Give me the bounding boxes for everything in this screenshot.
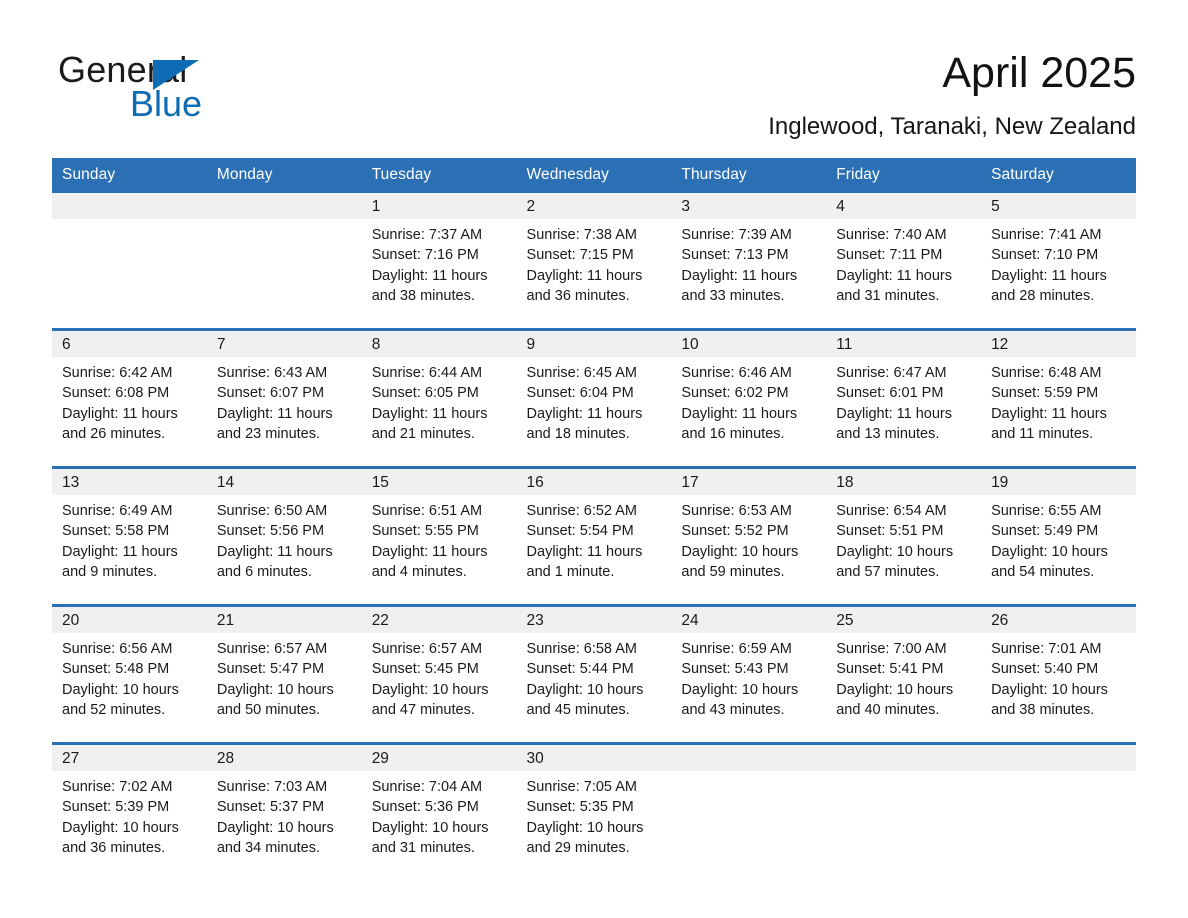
sunrise-text: Sunrise: 7:05 AM bbox=[527, 777, 664, 797]
sunrise-text: Sunrise: 7:04 AM bbox=[372, 777, 509, 797]
sunset-text: Sunset: 6:05 PM bbox=[372, 383, 509, 403]
day-number: 8 bbox=[362, 331, 517, 357]
day-number: 4 bbox=[826, 193, 981, 219]
day-number: 29 bbox=[362, 745, 517, 771]
calendar-day-cell[interactable]: 21Sunrise: 6:57 AMSunset: 5:47 PMDayligh… bbox=[207, 606, 362, 744]
calendar-day-cell[interactable]: 15Sunrise: 6:51 AMSunset: 5:55 PMDayligh… bbox=[362, 468, 517, 606]
daylight-text: Daylight: 11 hours and 13 minutes. bbox=[836, 404, 973, 445]
day-number bbox=[671, 745, 826, 771]
sunrise-text: Sunrise: 6:57 AM bbox=[217, 639, 354, 659]
day-number: 1 bbox=[362, 193, 517, 219]
sunrise-sunset-calendar: Sunday Monday Tuesday Wednesday Thursday… bbox=[52, 158, 1136, 880]
sunset-text: Sunset: 5:43 PM bbox=[681, 659, 818, 679]
day-cell-inner bbox=[826, 745, 981, 880]
daylight-text: Daylight: 10 hours and 31 minutes. bbox=[372, 818, 509, 859]
calendar-day-cell[interactable]: 5Sunrise: 7:41 AMSunset: 7:10 PMDaylight… bbox=[981, 193, 1136, 330]
sunrise-text: Sunrise: 6:50 AM bbox=[217, 501, 354, 521]
daylight-text: Daylight: 11 hours and 23 minutes. bbox=[217, 404, 354, 445]
calendar-day-cell[interactable]: 14Sunrise: 6:50 AMSunset: 5:56 PMDayligh… bbox=[207, 468, 362, 606]
sunrise-text: Sunrise: 6:58 AM bbox=[527, 639, 664, 659]
daylight-text: Daylight: 10 hours and 38 minutes. bbox=[991, 680, 1128, 721]
sunset-text: Sunset: 5:54 PM bbox=[527, 521, 664, 541]
day-number: 14 bbox=[207, 469, 362, 495]
sunrise-text: Sunrise: 6:54 AM bbox=[836, 501, 973, 521]
day-cell-inner: 3Sunrise: 7:39 AMSunset: 7:13 PMDaylight… bbox=[671, 193, 826, 328]
sunrise-text: Sunrise: 7:00 AM bbox=[836, 639, 973, 659]
sunrise-text: Sunrise: 6:49 AM bbox=[62, 501, 199, 521]
day-cell-inner: 7Sunrise: 6:43 AMSunset: 6:07 PMDaylight… bbox=[207, 331, 362, 466]
calendar-day-cell[interactable]: 16Sunrise: 6:52 AMSunset: 5:54 PMDayligh… bbox=[517, 468, 672, 606]
sunrise-text: Sunrise: 6:55 AM bbox=[991, 501, 1128, 521]
calendar-day-cell-empty bbox=[826, 744, 981, 881]
day-cell-inner: 10Sunrise: 6:46 AMSunset: 6:02 PMDayligh… bbox=[671, 331, 826, 466]
calendar-day-cell[interactable]: 27Sunrise: 7:02 AMSunset: 5:39 PMDayligh… bbox=[52, 744, 207, 881]
page-header: General Blue April 2025 Inglewood, Taran… bbox=[0, 0, 1188, 155]
daylight-text: Daylight: 10 hours and 57 minutes. bbox=[836, 542, 973, 583]
daylight-text: Daylight: 11 hours and 4 minutes. bbox=[372, 542, 509, 583]
sunset-text: Sunset: 7:16 PM bbox=[372, 245, 509, 265]
weekday-header-friday: Friday bbox=[826, 158, 981, 193]
day-cell-inner bbox=[981, 745, 1136, 880]
page-title: April 2025 bbox=[942, 48, 1136, 98]
sunrise-text: Sunrise: 7:02 AM bbox=[62, 777, 199, 797]
day-cell-details: Sunrise: 7:38 AMSunset: 7:15 PMDaylight:… bbox=[517, 219, 672, 306]
day-cell-details: Sunrise: 6:45 AMSunset: 6:04 PMDaylight:… bbox=[517, 357, 672, 444]
day-number: 6 bbox=[52, 331, 207, 357]
day-cell-details: Sunrise: 6:48 AMSunset: 5:59 PMDaylight:… bbox=[981, 357, 1136, 444]
daylight-text: Daylight: 10 hours and 47 minutes. bbox=[372, 680, 509, 721]
day-number: 11 bbox=[826, 331, 981, 357]
sunrise-text: Sunrise: 7:38 AM bbox=[527, 225, 664, 245]
calendar-day-cell-empty bbox=[981, 744, 1136, 881]
daylight-text: Daylight: 11 hours and 1 minute. bbox=[527, 542, 664, 583]
day-cell-details: Sunrise: 6:57 AMSunset: 5:47 PMDaylight:… bbox=[207, 633, 362, 720]
calendar-day-cell[interactable]: 9Sunrise: 6:45 AMSunset: 6:04 PMDaylight… bbox=[517, 330, 672, 468]
day-cell-details: Sunrise: 6:42 AMSunset: 6:08 PMDaylight:… bbox=[52, 357, 207, 444]
day-number bbox=[207, 193, 362, 219]
sunrise-text: Sunrise: 6:43 AM bbox=[217, 363, 354, 383]
day-cell-details: Sunrise: 6:51 AMSunset: 5:55 PMDaylight:… bbox=[362, 495, 517, 582]
calendar-day-cell[interactable]: 3Sunrise: 7:39 AMSunset: 7:13 PMDaylight… bbox=[671, 193, 826, 330]
day-number: 17 bbox=[671, 469, 826, 495]
general-blue-logo[interactable]: General Blue bbox=[58, 50, 318, 130]
sunrise-text: Sunrise: 6:51 AM bbox=[372, 501, 509, 521]
day-number: 30 bbox=[517, 745, 672, 771]
sunset-text: Sunset: 5:41 PM bbox=[836, 659, 973, 679]
calendar-day-cell[interactable]: 1Sunrise: 7:37 AMSunset: 7:16 PMDaylight… bbox=[362, 193, 517, 330]
calendar-day-cell[interactable]: 7Sunrise: 6:43 AMSunset: 6:07 PMDaylight… bbox=[207, 330, 362, 468]
day-cell-inner: 21Sunrise: 6:57 AMSunset: 5:47 PMDayligh… bbox=[207, 607, 362, 742]
day-cell-inner: 15Sunrise: 6:51 AMSunset: 5:55 PMDayligh… bbox=[362, 469, 517, 604]
day-cell-inner: 25Sunrise: 7:00 AMSunset: 5:41 PMDayligh… bbox=[826, 607, 981, 742]
sunset-text: Sunset: 5:39 PM bbox=[62, 797, 199, 817]
weekday-header-wednesday: Wednesday bbox=[517, 158, 672, 193]
sunset-text: Sunset: 5:48 PM bbox=[62, 659, 199, 679]
day-cell-inner: 9Sunrise: 6:45 AMSunset: 6:04 PMDaylight… bbox=[517, 331, 672, 466]
day-cell-inner: 2Sunrise: 7:38 AMSunset: 7:15 PMDaylight… bbox=[517, 193, 672, 328]
day-cell-inner: 8Sunrise: 6:44 AMSunset: 6:05 PMDaylight… bbox=[362, 331, 517, 466]
sunrise-text: Sunrise: 7:01 AM bbox=[991, 639, 1128, 659]
calendar-week-row: 20Sunrise: 6:56 AMSunset: 5:48 PMDayligh… bbox=[52, 606, 1136, 744]
day-cell-inner: 20Sunrise: 6:56 AMSunset: 5:48 PMDayligh… bbox=[52, 607, 207, 742]
sunrise-text: Sunrise: 6:59 AM bbox=[681, 639, 818, 659]
calendar-day-cell[interactable]: 24Sunrise: 6:59 AMSunset: 5:43 PMDayligh… bbox=[671, 606, 826, 744]
day-cell-inner bbox=[52, 193, 207, 328]
day-cell-details: Sunrise: 7:00 AMSunset: 5:41 PMDaylight:… bbox=[826, 633, 981, 720]
day-number: 19 bbox=[981, 469, 1136, 495]
day-cell-inner: 26Sunrise: 7:01 AMSunset: 5:40 PMDayligh… bbox=[981, 607, 1136, 742]
sunset-text: Sunset: 5:49 PM bbox=[991, 521, 1128, 541]
day-cell-details: Sunrise: 6:50 AMSunset: 5:56 PMDaylight:… bbox=[207, 495, 362, 582]
weekday-header-monday: Monday bbox=[207, 158, 362, 193]
sunset-text: Sunset: 5:40 PM bbox=[991, 659, 1128, 679]
day-cell-inner: 23Sunrise: 6:58 AMSunset: 5:44 PMDayligh… bbox=[517, 607, 672, 742]
daylight-text: Daylight: 10 hours and 36 minutes. bbox=[62, 818, 199, 859]
day-cell-details: Sunrise: 6:49 AMSunset: 5:58 PMDaylight:… bbox=[52, 495, 207, 582]
calendar-week-row: 13Sunrise: 6:49 AMSunset: 5:58 PMDayligh… bbox=[52, 468, 1136, 606]
day-cell-details: Sunrise: 7:04 AMSunset: 5:36 PMDaylight:… bbox=[362, 771, 517, 858]
calendar-day-cell[interactable]: 10Sunrise: 6:46 AMSunset: 6:02 PMDayligh… bbox=[671, 330, 826, 468]
day-cell-inner: 1Sunrise: 7:37 AMSunset: 7:16 PMDaylight… bbox=[362, 193, 517, 328]
day-cell-inner: 12Sunrise: 6:48 AMSunset: 5:59 PMDayligh… bbox=[981, 331, 1136, 466]
day-cell-inner: 13Sunrise: 6:49 AMSunset: 5:58 PMDayligh… bbox=[52, 469, 207, 604]
sunset-text: Sunset: 5:55 PM bbox=[372, 521, 509, 541]
calendar-page: General Blue April 2025 Inglewood, Taran… bbox=[0, 0, 1188, 918]
day-cell-inner: 6Sunrise: 6:42 AMSunset: 6:08 PMDaylight… bbox=[52, 331, 207, 466]
sunrise-text: Sunrise: 6:56 AM bbox=[62, 639, 199, 659]
sunrise-text: Sunrise: 7:03 AM bbox=[217, 777, 354, 797]
calendar-day-cell[interactable]: 29Sunrise: 7:04 AMSunset: 5:36 PMDayligh… bbox=[362, 744, 517, 881]
sunset-text: Sunset: 7:11 PM bbox=[836, 245, 973, 265]
calendar-day-cell[interactable]: 8Sunrise: 6:44 AMSunset: 6:05 PMDaylight… bbox=[362, 330, 517, 468]
calendar-day-cell[interactable]: 18Sunrise: 6:54 AMSunset: 5:51 PMDayligh… bbox=[826, 468, 981, 606]
calendar-day-cell[interactable]: 25Sunrise: 7:00 AMSunset: 5:41 PMDayligh… bbox=[826, 606, 981, 744]
sunrise-text: Sunrise: 6:45 AM bbox=[527, 363, 664, 383]
sunset-text: Sunset: 7:10 PM bbox=[991, 245, 1128, 265]
calendar-week-row: 27Sunrise: 7:02 AMSunset: 5:39 PMDayligh… bbox=[52, 744, 1136, 881]
calendar-day-cell[interactable]: 12Sunrise: 6:48 AMSunset: 5:59 PMDayligh… bbox=[981, 330, 1136, 468]
daylight-text: Daylight: 10 hours and 40 minutes. bbox=[836, 680, 973, 721]
day-cell-details: Sunrise: 6:44 AMSunset: 6:05 PMDaylight:… bbox=[362, 357, 517, 444]
day-number: 16 bbox=[517, 469, 672, 495]
day-cell-inner: 27Sunrise: 7:02 AMSunset: 5:39 PMDayligh… bbox=[52, 745, 207, 880]
day-cell-details: Sunrise: 7:37 AMSunset: 7:16 PMDaylight:… bbox=[362, 219, 517, 306]
calendar-day-cell[interactable]: 23Sunrise: 6:58 AMSunset: 5:44 PMDayligh… bbox=[517, 606, 672, 744]
daylight-text: Daylight: 11 hours and 31 minutes. bbox=[836, 266, 973, 307]
daylight-text: Daylight: 10 hours and 29 minutes. bbox=[527, 818, 664, 859]
sunset-text: Sunset: 5:59 PM bbox=[991, 383, 1128, 403]
day-cell-inner bbox=[671, 745, 826, 880]
day-number: 27 bbox=[52, 745, 207, 771]
day-cell-details: Sunrise: 6:56 AMSunset: 5:48 PMDaylight:… bbox=[52, 633, 207, 720]
daylight-text: Daylight: 11 hours and 38 minutes. bbox=[372, 266, 509, 307]
sunset-text: Sunset: 6:08 PM bbox=[62, 383, 199, 403]
weekday-header-sunday: Sunday bbox=[52, 158, 207, 193]
sunrise-text: Sunrise: 6:53 AM bbox=[681, 501, 818, 521]
sunrise-text: Sunrise: 6:52 AM bbox=[527, 501, 664, 521]
sunrise-text: Sunrise: 7:41 AM bbox=[991, 225, 1128, 245]
day-cell-details: Sunrise: 6:46 AMSunset: 6:02 PMDaylight:… bbox=[671, 357, 826, 444]
day-cell-inner: 30Sunrise: 7:05 AMSunset: 5:35 PMDayligh… bbox=[517, 745, 672, 880]
day-cell-details: Sunrise: 7:02 AMSunset: 5:39 PMDaylight:… bbox=[52, 771, 207, 858]
day-cell-details: Sunrise: 6:53 AMSunset: 5:52 PMDaylight:… bbox=[671, 495, 826, 582]
day-number: 2 bbox=[517, 193, 672, 219]
day-number: 5 bbox=[981, 193, 1136, 219]
day-cell-details: Sunrise: 7:01 AMSunset: 5:40 PMDaylight:… bbox=[981, 633, 1136, 720]
sunrise-text: Sunrise: 6:46 AM bbox=[681, 363, 818, 383]
day-cell-details: Sunrise: 7:41 AMSunset: 7:10 PMDaylight:… bbox=[981, 219, 1136, 306]
day-cell-inner: 11Sunrise: 6:47 AMSunset: 6:01 PMDayligh… bbox=[826, 331, 981, 466]
day-number: 15 bbox=[362, 469, 517, 495]
sunrise-text: Sunrise: 7:39 AM bbox=[681, 225, 818, 245]
day-cell-details: Sunrise: 6:55 AMSunset: 5:49 PMDaylight:… bbox=[981, 495, 1136, 582]
day-number: 20 bbox=[52, 607, 207, 633]
calendar-week-row: 6Sunrise: 6:42 AMSunset: 6:08 PMDaylight… bbox=[52, 330, 1136, 468]
weekday-header-saturday: Saturday bbox=[981, 158, 1136, 193]
day-number: 24 bbox=[671, 607, 826, 633]
day-cell-details: Sunrise: 6:59 AMSunset: 5:43 PMDaylight:… bbox=[671, 633, 826, 720]
day-number: 26 bbox=[981, 607, 1136, 633]
daylight-text: Daylight: 11 hours and 16 minutes. bbox=[681, 404, 818, 445]
sunset-text: Sunset: 6:01 PM bbox=[836, 383, 973, 403]
day-number: 10 bbox=[671, 331, 826, 357]
day-cell-details: Sunrise: 6:43 AMSunset: 6:07 PMDaylight:… bbox=[207, 357, 362, 444]
daylight-text: Daylight: 10 hours and 54 minutes. bbox=[991, 542, 1128, 583]
day-cell-details: Sunrise: 7:05 AMSunset: 5:35 PMDaylight:… bbox=[517, 771, 672, 858]
daylight-text: Daylight: 10 hours and 52 minutes. bbox=[62, 680, 199, 721]
day-number: 25 bbox=[826, 607, 981, 633]
day-number bbox=[52, 193, 207, 219]
calendar-day-cell-empty bbox=[207, 193, 362, 330]
calendar-week-row: 1Sunrise: 7:37 AMSunset: 7:16 PMDaylight… bbox=[52, 193, 1136, 330]
calendar-day-cell[interactable]: 20Sunrise: 6:56 AMSunset: 5:48 PMDayligh… bbox=[52, 606, 207, 744]
sunset-text: Sunset: 5:52 PM bbox=[681, 521, 818, 541]
daylight-text: Daylight: 11 hours and 33 minutes. bbox=[681, 266, 818, 307]
calendar-header-row: Sunday Monday Tuesday Wednesday Thursday… bbox=[52, 158, 1136, 193]
day-cell-details: Sunrise: 6:52 AMSunset: 5:54 PMDaylight:… bbox=[517, 495, 672, 582]
day-number: 13 bbox=[52, 469, 207, 495]
day-cell-details: Sunrise: 6:58 AMSunset: 5:44 PMDaylight:… bbox=[517, 633, 672, 720]
sunrise-text: Sunrise: 6:57 AM bbox=[372, 639, 509, 659]
sunset-text: Sunset: 6:07 PM bbox=[217, 383, 354, 403]
day-cell-inner: 17Sunrise: 6:53 AMSunset: 5:52 PMDayligh… bbox=[671, 469, 826, 604]
daylight-text: Daylight: 11 hours and 36 minutes. bbox=[527, 266, 664, 307]
sunrise-text: Sunrise: 7:40 AM bbox=[836, 225, 973, 245]
day-number bbox=[981, 745, 1136, 771]
calendar-day-cell[interactable]: 6Sunrise: 6:42 AMSunset: 6:08 PMDaylight… bbox=[52, 330, 207, 468]
day-number: 23 bbox=[517, 607, 672, 633]
day-number: 12 bbox=[981, 331, 1136, 357]
daylight-text: Daylight: 10 hours and 50 minutes. bbox=[217, 680, 354, 721]
day-cell-inner: 19Sunrise: 6:55 AMSunset: 5:49 PMDayligh… bbox=[981, 469, 1136, 604]
sunset-text: Sunset: 7:13 PM bbox=[681, 245, 818, 265]
calendar-day-cell[interactable]: 30Sunrise: 7:05 AMSunset: 5:35 PMDayligh… bbox=[517, 744, 672, 881]
day-cell-details: Sunrise: 6:47 AMSunset: 6:01 PMDaylight:… bbox=[826, 357, 981, 444]
daylight-text: Daylight: 10 hours and 59 minutes. bbox=[681, 542, 818, 583]
weekday-header-thursday: Thursday bbox=[671, 158, 826, 193]
calendar-day-cell[interactable]: 19Sunrise: 6:55 AMSunset: 5:49 PMDayligh… bbox=[981, 468, 1136, 606]
daylight-text: Daylight: 11 hours and 18 minutes. bbox=[527, 404, 664, 445]
sunset-text: Sunset: 5:51 PM bbox=[836, 521, 973, 541]
calendar-day-cell[interactable]: 17Sunrise: 6:53 AMSunset: 5:52 PMDayligh… bbox=[671, 468, 826, 606]
day-cell-details: Sunrise: 6:57 AMSunset: 5:45 PMDaylight:… bbox=[362, 633, 517, 720]
day-cell-details: Sunrise: 7:03 AMSunset: 5:37 PMDaylight:… bbox=[207, 771, 362, 858]
daylight-text: Daylight: 10 hours and 34 minutes. bbox=[217, 818, 354, 859]
day-cell-details: Sunrise: 7:40 AMSunset: 7:11 PMDaylight:… bbox=[826, 219, 981, 306]
day-cell-inner: 18Sunrise: 6:54 AMSunset: 5:51 PMDayligh… bbox=[826, 469, 981, 604]
sunset-text: Sunset: 6:02 PM bbox=[681, 383, 818, 403]
calendar-day-cell-empty bbox=[52, 193, 207, 330]
sunset-text: Sunset: 5:56 PM bbox=[217, 521, 354, 541]
daylight-text: Daylight: 11 hours and 26 minutes. bbox=[62, 404, 199, 445]
daylight-text: Daylight: 11 hours and 6 minutes. bbox=[217, 542, 354, 583]
sunset-text: Sunset: 5:45 PM bbox=[372, 659, 509, 679]
day-cell-details: Sunrise: 6:54 AMSunset: 5:51 PMDaylight:… bbox=[826, 495, 981, 582]
sunset-text: Sunset: 7:15 PM bbox=[527, 245, 664, 265]
logo-text-blue: Blue bbox=[130, 84, 202, 124]
day-number: 9 bbox=[517, 331, 672, 357]
sunrise-text: Sunrise: 7:37 AM bbox=[372, 225, 509, 245]
sunset-text: Sunset: 5:58 PM bbox=[62, 521, 199, 541]
calendar-day-cell[interactable]: 4Sunrise: 7:40 AMSunset: 7:11 PMDaylight… bbox=[826, 193, 981, 330]
day-cell-inner: 4Sunrise: 7:40 AMSunset: 7:11 PMDaylight… bbox=[826, 193, 981, 328]
weekday-header-tuesday: Tuesday bbox=[362, 158, 517, 193]
sunrise-text: Sunrise: 6:48 AM bbox=[991, 363, 1128, 383]
day-cell-inner: 24Sunrise: 6:59 AMSunset: 5:43 PMDayligh… bbox=[671, 607, 826, 742]
page-subtitle: Inglewood, Taranaki, New Zealand bbox=[768, 112, 1136, 142]
day-cell-inner bbox=[207, 193, 362, 328]
day-number: 21 bbox=[207, 607, 362, 633]
day-number: 22 bbox=[362, 607, 517, 633]
sunset-text: Sunset: 5:47 PM bbox=[217, 659, 354, 679]
calendar-day-cell[interactable]: 28Sunrise: 7:03 AMSunset: 5:37 PMDayligh… bbox=[207, 744, 362, 881]
calendar-body: 1Sunrise: 7:37 AMSunset: 7:16 PMDaylight… bbox=[52, 193, 1136, 880]
daylight-text: Daylight: 11 hours and 11 minutes. bbox=[991, 404, 1128, 445]
day-number: 3 bbox=[671, 193, 826, 219]
day-cell-inner: 22Sunrise: 6:57 AMSunset: 5:45 PMDayligh… bbox=[362, 607, 517, 742]
sunrise-text: Sunrise: 6:42 AM bbox=[62, 363, 199, 383]
sunset-text: Sunset: 6:04 PM bbox=[527, 383, 664, 403]
daylight-text: Daylight: 11 hours and 28 minutes. bbox=[991, 266, 1128, 307]
sunrise-text: Sunrise: 6:44 AM bbox=[372, 363, 509, 383]
daylight-text: Daylight: 10 hours and 43 minutes. bbox=[681, 680, 818, 721]
day-number: 28 bbox=[207, 745, 362, 771]
calendar-day-cell[interactable]: 13Sunrise: 6:49 AMSunset: 5:58 PMDayligh… bbox=[52, 468, 207, 606]
sunset-text: Sunset: 5:44 PM bbox=[527, 659, 664, 679]
calendar-day-cell[interactable]: 22Sunrise: 6:57 AMSunset: 5:45 PMDayligh… bbox=[362, 606, 517, 744]
sunset-text: Sunset: 5:35 PM bbox=[527, 797, 664, 817]
day-cell-inner: 28Sunrise: 7:03 AMSunset: 5:37 PMDayligh… bbox=[207, 745, 362, 880]
calendar-day-cell[interactable]: 26Sunrise: 7:01 AMSunset: 5:40 PMDayligh… bbox=[981, 606, 1136, 744]
daylight-text: Daylight: 11 hours and 9 minutes. bbox=[62, 542, 199, 583]
day-cell-inner: 16Sunrise: 6:52 AMSunset: 5:54 PMDayligh… bbox=[517, 469, 672, 604]
sunrise-text: Sunrise: 6:47 AM bbox=[836, 363, 973, 383]
calendar-day-cell[interactable]: 11Sunrise: 6:47 AMSunset: 6:01 PMDayligh… bbox=[826, 330, 981, 468]
sunset-text: Sunset: 5:36 PM bbox=[372, 797, 509, 817]
calendar-day-cell[interactable]: 2Sunrise: 7:38 AMSunset: 7:15 PMDaylight… bbox=[517, 193, 672, 330]
day-number bbox=[826, 745, 981, 771]
daylight-text: Daylight: 10 hours and 45 minutes. bbox=[527, 680, 664, 721]
day-cell-inner: 14Sunrise: 6:50 AMSunset: 5:56 PMDayligh… bbox=[207, 469, 362, 604]
daylight-text: Daylight: 11 hours and 21 minutes. bbox=[372, 404, 509, 445]
day-number: 18 bbox=[826, 469, 981, 495]
day-cell-inner: 29Sunrise: 7:04 AMSunset: 5:36 PMDayligh… bbox=[362, 745, 517, 880]
day-number: 7 bbox=[207, 331, 362, 357]
calendar-day-cell-empty bbox=[671, 744, 826, 881]
day-cell-details: Sunrise: 7:39 AMSunset: 7:13 PMDaylight:… bbox=[671, 219, 826, 306]
sunset-text: Sunset: 5:37 PM bbox=[217, 797, 354, 817]
day-cell-inner: 5Sunrise: 7:41 AMSunset: 7:10 PMDaylight… bbox=[981, 193, 1136, 328]
